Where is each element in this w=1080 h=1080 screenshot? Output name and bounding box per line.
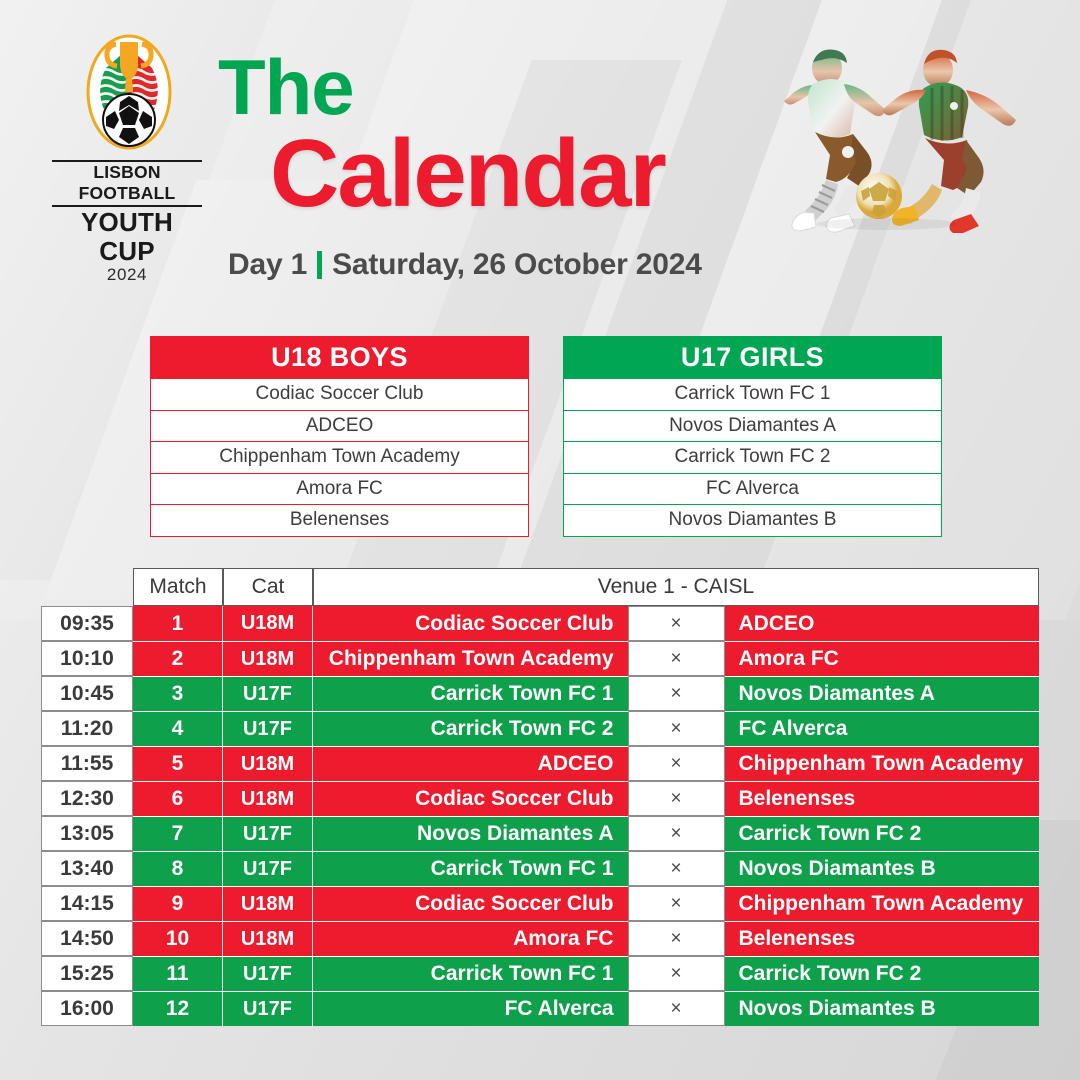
table-row: 13:057U17FNovos Diamantes A×Carrick Town… xyxy=(41,816,1039,851)
calendar-poster: LISBON FOOTBALL YOUTH CUP 2024 xyxy=(0,0,1080,1080)
group-team-item: ADCEO xyxy=(151,410,528,442)
group-team-item: Carrick Town FC 2 xyxy=(564,441,941,473)
cell-away-team: Carrick Town FC 2 xyxy=(725,956,1040,991)
subtitle: Day 1 Saturday, 26 October 2024 xyxy=(228,248,702,282)
cell-match-number: 11 xyxy=(133,956,223,991)
cell-away-team: Novos Diamantes B xyxy=(725,991,1040,1026)
cell-match-number: 3 xyxy=(133,676,223,711)
table-row: 14:5010U18MAmora FC×Belenenses xyxy=(41,921,1039,956)
cell-category: U18M xyxy=(223,746,313,781)
cell-match-number: 12 xyxy=(133,991,223,1026)
cell-versus: × xyxy=(628,746,725,781)
cell-versus: × xyxy=(628,676,725,711)
cell-match-number: 4 xyxy=(133,711,223,746)
group-box-u18-boys: U18 BOYS Codiac Soccer Club ADCEO Chippe… xyxy=(150,336,529,537)
cell-category: U17F xyxy=(223,816,313,851)
cell-category: U18M xyxy=(223,641,313,676)
group-team-item: Carrick Town FC 1 xyxy=(564,378,941,410)
cell-time: 13:05 xyxy=(41,816,133,851)
header-blank-cell xyxy=(41,568,133,606)
cell-time: 12:30 xyxy=(41,781,133,816)
trophy-football-badge-icon xyxy=(86,34,172,156)
table-row: 13:408U17FCarrick Town FC 1×Novos Diaman… xyxy=(41,851,1039,886)
cell-category: U17F xyxy=(223,956,313,991)
cell-versus: × xyxy=(628,956,725,991)
cell-home-team: Carrick Town FC 1 xyxy=(313,956,628,991)
cell-away-team: Chippenham Town Academy xyxy=(725,886,1040,921)
cell-away-team: Belenenses xyxy=(725,921,1040,956)
cell-away-team: Novos Diamantes A xyxy=(725,676,1040,711)
cell-versus: × xyxy=(628,781,725,816)
cell-home-team: Carrick Town FC 2 xyxy=(313,711,628,746)
cell-category: U17F xyxy=(223,991,313,1026)
group-team-item: Amora FC xyxy=(151,473,528,505)
title-the: The xyxy=(218,52,778,124)
group-box-u17-girls: U17 GIRLS Carrick Town FC 1 Novos Diaman… xyxy=(563,336,942,537)
cell-category: U17F xyxy=(223,851,313,886)
cell-versus: × xyxy=(628,851,725,886)
cell-home-team: Carrick Town FC 1 xyxy=(313,851,628,886)
cell-away-team: Chippenham Town Academy xyxy=(725,746,1040,781)
cell-home-team: Codiac Soccer Club xyxy=(313,886,628,921)
cell-versus: × xyxy=(628,991,725,1026)
cell-away-team: Belenenses xyxy=(725,781,1040,816)
cell-time: 11:20 xyxy=(41,711,133,746)
cell-time: 14:15 xyxy=(41,886,133,921)
cell-match-number: 6 xyxy=(133,781,223,816)
group-team-item: Novos Diamantes A xyxy=(564,410,941,442)
cell-match-number: 2 xyxy=(133,641,223,676)
subtitle-date: Saturday, 26 October 2024 xyxy=(332,248,702,282)
schedule-table: Match Cat Venue 1 - CAISL 09:351U18MCodi… xyxy=(41,568,1039,1026)
group-team-item: Chippenham Town Academy xyxy=(151,441,528,473)
cell-versus: × xyxy=(628,886,725,921)
cell-category: U17F xyxy=(223,711,313,746)
table-row: 11:555U18MADCEO×Chippenham Town Academy xyxy=(41,746,1039,781)
cell-match-number: 9 xyxy=(133,886,223,921)
group-title-u17-girls: U17 GIRLS xyxy=(564,337,941,378)
cell-time: 10:10 xyxy=(41,641,133,676)
cell-time: 16:00 xyxy=(41,991,133,1026)
cell-home-team: Carrick Town FC 1 xyxy=(313,676,628,711)
cell-home-team: ADCEO xyxy=(313,746,628,781)
cell-home-team: Codiac Soccer Club xyxy=(313,781,628,816)
cell-category: U18M xyxy=(223,606,313,641)
cell-versus: × xyxy=(628,711,725,746)
cell-away-team: Carrick Town FC 2 xyxy=(725,816,1040,851)
group-team-item: FC Alverca xyxy=(564,473,941,505)
cell-match-number: 1 xyxy=(133,606,223,641)
cell-time: 13:40 xyxy=(41,851,133,886)
cell-category: U18M xyxy=(223,886,313,921)
cell-versus: × xyxy=(628,816,725,851)
header-cat: Cat xyxy=(223,568,313,606)
cell-time: 10:45 xyxy=(41,676,133,711)
cell-versus: × xyxy=(628,921,725,956)
cell-time: 15:25 xyxy=(41,956,133,991)
cell-away-team: ADCEO xyxy=(725,606,1040,641)
cell-home-team: Novos Diamantes A xyxy=(313,816,628,851)
cell-category: U18M xyxy=(223,921,313,956)
cell-match-number: 7 xyxy=(133,816,223,851)
logo-line-2: YOUTH CUP xyxy=(52,208,202,266)
header-match: Match xyxy=(133,568,223,606)
cell-home-team: Amora FC xyxy=(313,921,628,956)
cell-home-team: Codiac Soccer Club xyxy=(313,606,628,641)
cell-match-number: 5 xyxy=(133,746,223,781)
tournament-logo: LISBON FOOTBALL YOUTH CUP 2024 xyxy=(52,34,202,229)
table-header-row: Match Cat Venue 1 - CAISL xyxy=(41,568,1039,606)
cell-match-number: 10 xyxy=(133,921,223,956)
cell-category: U18M xyxy=(223,781,313,816)
cell-away-team: FC Alverca xyxy=(725,711,1040,746)
group-team-item: Belenenses xyxy=(151,504,528,536)
header-venue: Venue 1 - CAISL xyxy=(313,568,1039,606)
group-title-u18-boys: U18 BOYS xyxy=(151,337,528,378)
table-row: 10:102U18MChippenham Town Academy×Amora … xyxy=(41,641,1039,676)
subtitle-day: Day 1 xyxy=(228,248,307,282)
cell-time: 14:50 xyxy=(41,921,133,956)
table-row: 10:453U17FCarrick Town FC 1×Novos Diaman… xyxy=(41,676,1039,711)
cell-versus: × xyxy=(628,641,725,676)
group-team-item: Codiac Soccer Club xyxy=(151,378,528,410)
title-calendar: Calendar xyxy=(270,128,778,219)
cell-home-team: FC Alverca xyxy=(313,991,628,1026)
cell-time: 11:55 xyxy=(41,746,133,781)
subtitle-separator-bar xyxy=(317,251,322,279)
logo-line-1: LISBON FOOTBALL xyxy=(52,160,202,207)
cell-category: U17F xyxy=(223,676,313,711)
table-row: 15:2511U17FCarrick Town FC 1×Carrick Tow… xyxy=(41,956,1039,991)
cell-versus: × xyxy=(628,606,725,641)
table-row: 12:306U18MCodiac Soccer Club×Belenenses xyxy=(41,781,1039,816)
cell-time: 09:35 xyxy=(41,606,133,641)
group-team-item: Novos Diamantes B xyxy=(564,504,941,536)
cell-home-team: Chippenham Town Academy xyxy=(313,641,628,676)
table-row: 14:159U18MCodiac Soccer Club×Chippenham … xyxy=(41,886,1039,921)
table-row: 11:204U17FCarrick Town FC 2×FC Alverca xyxy=(41,711,1039,746)
cell-match-number: 8 xyxy=(133,851,223,886)
page-title: The Calendar xyxy=(218,52,778,219)
logo-line-3: 2024 xyxy=(52,266,202,285)
table-row: 09:351U18MCodiac Soccer Club×ADCEO xyxy=(41,606,1039,641)
cell-away-team: Amora FC xyxy=(725,641,1040,676)
table-row: 16:0012U17FFC Alverca×Novos Diamantes B xyxy=(41,991,1039,1026)
cell-away-team: Novos Diamantes B xyxy=(725,851,1040,886)
